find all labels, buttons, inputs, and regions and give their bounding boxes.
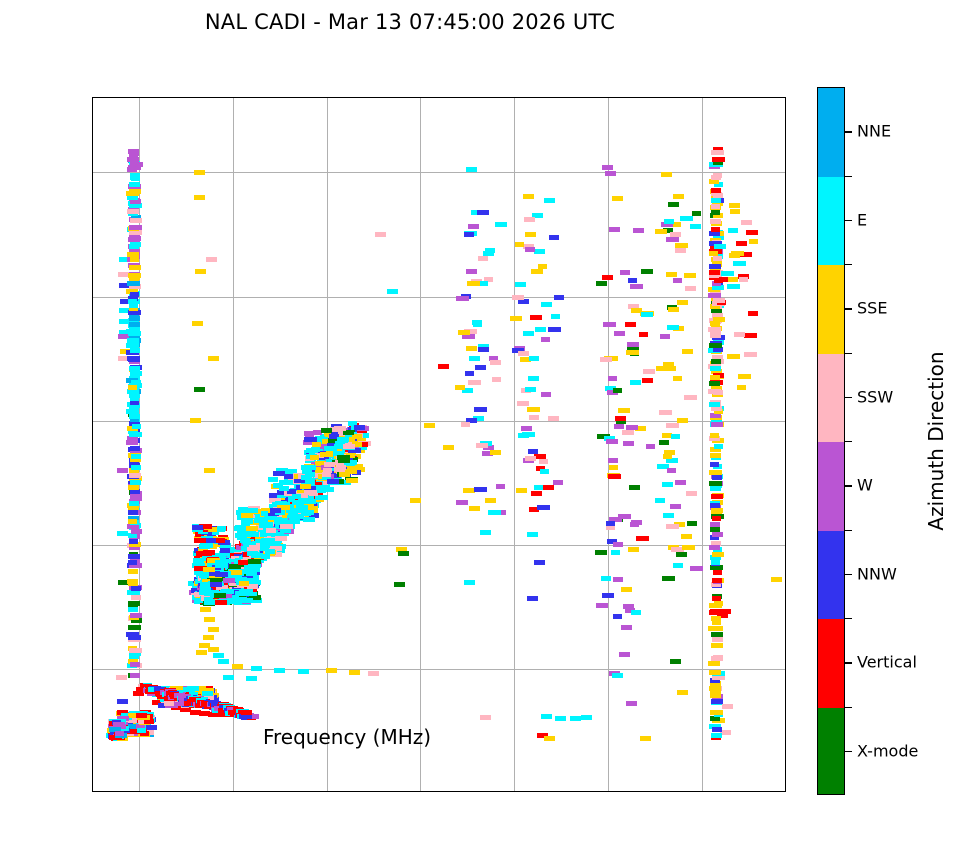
data-mark: [131, 595, 141, 600]
data-mark: [673, 563, 683, 568]
data-mark: [656, 366, 669, 371]
data-mark: [712, 727, 722, 732]
colorbar[interactable]: [817, 87, 845, 795]
data-mark: [192, 321, 203, 326]
data-mark: [128, 607, 138, 612]
data-mark: [458, 330, 470, 335]
data-mark: [254, 518, 265, 523]
data-mark: [456, 296, 469, 301]
data-mark: [666, 458, 678, 463]
data-mark: [641, 269, 653, 274]
data-mark: [130, 400, 139, 405]
data-mark: [117, 699, 128, 704]
data-mark: [686, 491, 697, 496]
data-mark: [474, 407, 487, 412]
data-mark: [606, 521, 615, 526]
x-axis-tick: [139, 791, 140, 792]
data-mark: [464, 232, 474, 237]
data-mark: [551, 314, 560, 319]
ionogram-figure: NAL CADI - Mar 13 07:45:00 2026 UTC 2468…: [0, 0, 958, 857]
data-mark: [581, 715, 592, 720]
data-mark: [614, 424, 624, 429]
data-mark: [524, 217, 535, 222]
data-mark: [126, 343, 139, 348]
data-mark: [664, 219, 674, 224]
data-mark: [523, 331, 534, 336]
colorbar-tick: [845, 574, 852, 575]
data-mark: [535, 327, 546, 332]
data-mark: [690, 224, 701, 229]
data-mark: [548, 416, 559, 421]
data-mark: [214, 593, 226, 598]
data-mark: [324, 462, 335, 467]
data-mark: [223, 578, 235, 583]
data-mark: [469, 356, 480, 361]
data-mark: [129, 151, 139, 156]
data-mark: [215, 572, 224, 577]
colorbar-segment-nne[interactable]: [818, 88, 844, 177]
data-mark: [251, 553, 261, 558]
data-mark: [468, 380, 481, 385]
data-mark: [227, 598, 239, 603]
colorbar-tick: [845, 220, 852, 221]
data-mark: [310, 455, 319, 460]
data-mark: [534, 485, 543, 490]
page-title: NAL CADI - Mar 13 07:45:00 2026 UTC: [0, 10, 820, 34]
data-mark: [220, 548, 230, 553]
data-mark: [272, 541, 281, 546]
data-mark: [337, 455, 350, 460]
data-mark: [128, 237, 140, 242]
data-mark: [541, 302, 552, 307]
data-mark: [711, 422, 723, 427]
data-mark: [466, 167, 477, 172]
data-mark: [667, 325, 679, 330]
data-mark: [661, 172, 672, 177]
data-mark: [643, 369, 655, 374]
data-mark: [127, 252, 139, 257]
data-mark: [570, 716, 581, 721]
data-mark: [744, 352, 757, 357]
data-mark: [466, 269, 477, 274]
data-mark: [684, 395, 697, 400]
data-mark: [614, 331, 625, 336]
data-mark: [710, 527, 720, 532]
data-mark: [555, 716, 566, 721]
data-mark: [237, 535, 247, 540]
data-mark: [708, 327, 721, 332]
data-mark: [711, 699, 723, 704]
colorbar-label-ssw: SSW: [857, 387, 893, 406]
data-mark: [673, 376, 682, 381]
data-mark: [265, 549, 275, 554]
data-mark: [304, 465, 316, 470]
colorbar-boundary-tick: [845, 176, 852, 177]
data-mark: [410, 498, 421, 503]
data-mark: [510, 316, 522, 321]
data-mark: [690, 566, 703, 571]
data-mark: [343, 444, 355, 449]
data-mark: [721, 271, 734, 276]
data-mark: [601, 576, 611, 581]
data-mark: [692, 211, 701, 216]
data-mark: [126, 191, 139, 196]
data-mark: [438, 364, 449, 369]
data-mark: [284, 480, 293, 485]
data-mark: [248, 508, 258, 513]
colorbar-tick: [845, 751, 852, 752]
data-mark: [455, 385, 465, 390]
data-mark: [668, 202, 679, 207]
data-mark: [712, 532, 723, 537]
data-mark: [320, 452, 333, 457]
data-mark: [744, 333, 757, 338]
data-mark: [729, 203, 740, 208]
y-axis-minor-tick: [92, 483, 93, 484]
data-mark: [710, 321, 720, 326]
data-mark: [630, 380, 641, 385]
data-mark: [527, 407, 540, 412]
data-mark: [734, 332, 745, 337]
data-mark: [467, 281, 480, 286]
data-mark: [478, 347, 489, 352]
data-mark: [204, 468, 215, 473]
data-mark: [666, 237, 679, 242]
data-mark: [531, 269, 543, 274]
data-mark: [685, 286, 696, 291]
data-mark: [605, 171, 616, 176]
data-mark: [270, 508, 281, 513]
data-mark: [213, 653, 224, 658]
data-mark: [662, 576, 675, 581]
data-mark: [466, 346, 477, 351]
x-axis-minor-tick: [373, 791, 374, 792]
data-mark: [530, 315, 542, 320]
x-axis-tick: [702, 791, 703, 792]
data-mark: [659, 440, 669, 445]
data-mark: [354, 425, 365, 430]
data-mark: [126, 632, 139, 637]
data-mark: [523, 194, 534, 199]
data-mark: [349, 670, 360, 675]
colorbar-segment-w[interactable]: [818, 442, 844, 531]
data-mark: [525, 247, 535, 252]
data-mark: [527, 532, 538, 537]
data-mark: [531, 491, 542, 496]
data-mark: [296, 505, 308, 510]
data-mark: [241, 710, 252, 715]
data-mark: [276, 518, 288, 523]
data-mark: [682, 545, 695, 550]
data-mark: [553, 480, 563, 485]
data-mark: [710, 453, 721, 458]
data-mark: [710, 462, 719, 467]
data-mark: [675, 248, 686, 253]
data-mark: [675, 243, 688, 248]
data-mark: [131, 380, 141, 385]
data-mark: [115, 731, 124, 736]
data-mark: [640, 736, 651, 741]
gridline-vertical: [420, 98, 421, 791]
data-mark: [613, 577, 623, 582]
data-mark: [204, 617, 215, 622]
data-mark: [235, 591, 247, 596]
x-axis-minor-tick: [749, 791, 750, 792]
colorbar-segment-e[interactable]: [818, 177, 844, 266]
data-mark: [223, 675, 234, 680]
data-mark: [208, 356, 219, 361]
data-mark: [541, 714, 552, 719]
data-mark: [130, 480, 141, 485]
data-mark: [544, 198, 555, 203]
data-mark: [129, 366, 140, 371]
data-mark: [619, 652, 630, 657]
data-mark: [712, 552, 724, 557]
data-mark: [128, 510, 138, 515]
data-mark: [130, 242, 141, 247]
data-mark: [684, 273, 696, 278]
data-mark: [246, 676, 257, 681]
data-mark: [129, 265, 141, 270]
data-mark: [709, 603, 722, 608]
colorbar-title: Azimuth Direction: [924, 351, 948, 530]
data-mark: [709, 686, 720, 691]
data-mark: [528, 449, 538, 454]
data-mark: [126, 409, 139, 414]
colorbar-boundary-tick: [845, 264, 852, 265]
data-mark: [273, 483, 283, 488]
data-mark: [710, 693, 721, 698]
x-axis-tick: [608, 791, 609, 792]
data-mark: [746, 230, 758, 235]
y-axis-minor-tick: [92, 731, 93, 732]
data-mark: [709, 402, 720, 407]
data-mark: [711, 508, 723, 513]
data-mark: [730, 209, 740, 214]
data-mark: [210, 582, 222, 587]
data-mark: [670, 504, 681, 509]
data-mark: [713, 193, 723, 198]
data-mark: [246, 526, 258, 531]
data-mark: [130, 348, 140, 353]
data-mark: [128, 299, 137, 304]
colorbar-boundary-tick: [845, 707, 852, 708]
data-mark: [528, 376, 539, 381]
data-mark: [203, 524, 212, 529]
data-mark: [127, 281, 140, 286]
data-mark: [719, 277, 728, 282]
data-mark: [206, 257, 217, 262]
data-mark: [713, 570, 722, 575]
data-mark: [748, 311, 758, 316]
data-mark: [129, 316, 140, 321]
data-mark: [232, 664, 243, 669]
data-mark: [130, 292, 139, 297]
data-mark: [527, 596, 538, 601]
data-mark: [670, 659, 681, 664]
x-axis-tick: [420, 791, 421, 792]
colorbar-label-nne: NNE: [857, 122, 891, 141]
data-mark: [129, 182, 140, 187]
data-mark: [248, 559, 261, 564]
data-mark: [621, 625, 632, 630]
data-mark: [630, 284, 643, 289]
data-mark: [130, 662, 140, 667]
data-mark: [666, 524, 679, 529]
data-mark: [424, 423, 435, 428]
data-mark: [606, 439, 618, 444]
data-mark: [128, 569, 137, 574]
data-mark: [600, 357, 612, 362]
data-mark: [117, 468, 128, 473]
data-mark: [130, 446, 140, 451]
colorbar-tick: [845, 662, 852, 663]
data-mark: [615, 416, 626, 421]
data-mark: [709, 670, 721, 675]
data-mark: [480, 715, 491, 720]
plot-area[interactable]: 24681012141602004006008001000: [92, 97, 786, 792]
data-mark: [629, 485, 640, 490]
data-mark: [710, 503, 720, 508]
colorbar-segment-x-mode[interactable]: [818, 708, 844, 796]
data-mark: [128, 625, 138, 630]
y-axis-tick: [92, 172, 93, 173]
data-mark: [249, 566, 260, 571]
data-mark: [539, 459, 548, 464]
data-mark: [443, 445, 454, 450]
data-mark: [710, 375, 720, 380]
data-mark: [194, 170, 205, 175]
data-mark: [710, 486, 721, 491]
data-mark: [646, 444, 655, 449]
data-mark: [128, 560, 137, 565]
colorbar-segment-sse[interactable]: [818, 265, 844, 354]
colorbar-tick: [845, 308, 852, 309]
data-mark: [711, 198, 721, 203]
data-mark: [194, 387, 205, 392]
x-axis-minor-tick: [655, 791, 656, 792]
data-mark: [464, 580, 475, 585]
data-mark: [667, 468, 676, 473]
data-mark: [215, 600, 227, 605]
data-mark: [712, 516, 721, 521]
gridline-vertical: [702, 98, 703, 791]
gridline-vertical: [233, 98, 234, 791]
data-mark: [710, 565, 723, 570]
data-mark: [130, 396, 139, 401]
data-mark: [623, 441, 634, 446]
colorbar-segment-ssw[interactable]: [818, 354, 844, 443]
data-mark: [518, 299, 529, 304]
data-mark: [208, 647, 219, 652]
data-mark: [731, 251, 744, 256]
data-mark: [609, 227, 620, 232]
data-mark: [187, 686, 199, 691]
data-mark: [711, 733, 722, 738]
data-mark: [544, 736, 555, 741]
data-mark: [713, 256, 722, 261]
colorbar-label-nnw: NNW: [857, 564, 897, 583]
data-mark: [675, 480, 686, 485]
data-mark: [660, 334, 670, 339]
data-mark: [608, 474, 621, 479]
data-mark: [733, 261, 746, 266]
data-mark: [655, 229, 667, 234]
data-mark: [398, 551, 409, 556]
data-mark: [468, 224, 479, 229]
data-mark: [117, 531, 128, 536]
data-mark: [687, 521, 697, 526]
data-mark: [710, 219, 721, 224]
data-mark: [202, 691, 213, 696]
data-mark: [200, 587, 211, 592]
data-mark: [275, 536, 287, 541]
data-mark: [298, 669, 309, 674]
data-mark: [130, 371, 142, 376]
data-mark: [476, 443, 488, 448]
colorbar-boundary-tick: [845, 618, 852, 619]
data-mark: [129, 414, 140, 419]
data-mark: [394, 582, 405, 587]
data-mark: [130, 218, 142, 223]
data-mark: [190, 418, 201, 423]
data-mark: [639, 332, 648, 337]
data-mark: [709, 481, 722, 486]
data-mark: [480, 530, 491, 535]
data-mark: [522, 432, 535, 437]
y-axis-tick: [92, 421, 93, 422]
data-mark: [312, 442, 321, 447]
x-axis-minor-tick: [467, 791, 468, 792]
data-mark: [628, 278, 637, 283]
data-mark: [713, 298, 725, 303]
data-mark: [540, 469, 549, 474]
data-mark: [670, 232, 681, 237]
data-mark: [711, 560, 720, 565]
data-mark: [625, 322, 636, 327]
data-mark: [612, 196, 623, 201]
data-mark: [208, 627, 219, 632]
data-mark: [713, 390, 723, 395]
data-mark: [322, 472, 331, 477]
data-mark: [710, 710, 723, 715]
data-mark: [465, 371, 474, 376]
data-mark: [608, 376, 617, 381]
colorbar-boundary-tick: [845, 353, 852, 354]
data-mark: [129, 501, 139, 506]
data-mark: [728, 228, 738, 233]
data-mark: [549, 235, 559, 240]
data-mark: [304, 431, 314, 436]
data-mark: [261, 554, 270, 559]
data-mark: [127, 338, 139, 343]
data-mark: [714, 444, 723, 449]
data-mark: [595, 550, 607, 555]
colorbar-segment-nnw[interactable]: [818, 531, 844, 620]
data-mark: [131, 454, 141, 459]
data-mark: [603, 322, 616, 327]
data-mark: [490, 360, 501, 365]
colorbar-segment-vertical[interactable]: [818, 619, 844, 708]
data-mark: [680, 216, 693, 221]
data-mark: [368, 671, 379, 676]
data-mark: [626, 350, 639, 355]
data-mark: [462, 334, 475, 339]
data-mark: [712, 620, 721, 625]
data-mark: [711, 359, 721, 364]
data-mark: [200, 607, 211, 612]
data-mark: [682, 349, 693, 354]
